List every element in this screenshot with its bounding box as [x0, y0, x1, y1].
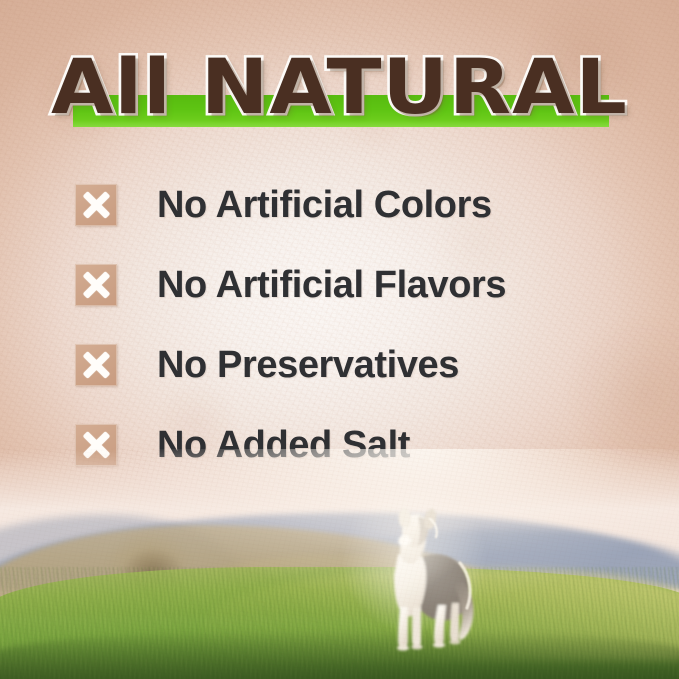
landscape-photo	[0, 449, 679, 679]
list-item: No Artificial Flavors	[75, 264, 635, 306]
claim-label: No Artificial Colors	[157, 184, 492, 227]
x-mark-icon	[75, 264, 117, 306]
list-item: No Preservatives	[75, 344, 635, 386]
list-item: No Artificial Colors	[75, 184, 635, 226]
claim-label: No Preservatives	[157, 344, 459, 387]
product-feature-panel: All NATURAL No Artificial Colors No Arti…	[0, 0, 679, 679]
foreground-shadow	[0, 631, 679, 679]
page-title: All NATURAL	[0, 47, 679, 127]
dog-icon	[366, 507, 490, 653]
claim-label: No Artificial Flavors	[157, 264, 506, 307]
x-mark-icon	[75, 344, 117, 386]
x-mark-icon	[75, 184, 117, 226]
